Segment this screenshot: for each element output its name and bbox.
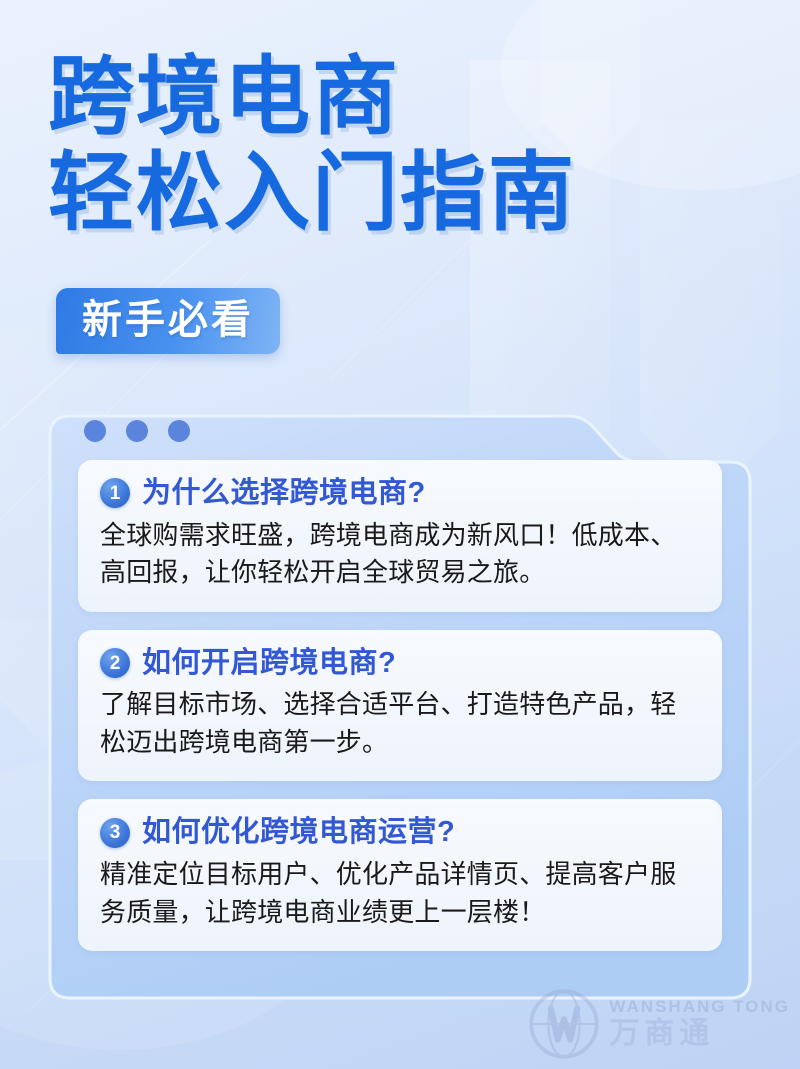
watermark-chinese: 万商通: [609, 1018, 790, 1050]
section-header: 1 为什么选择跨境电商?: [100, 476, 700, 511]
badge-label: 新手必看: [82, 298, 254, 342]
window-dot-1-icon: [84, 420, 106, 442]
section-item: 3 如何优化跨境电商运营? 精准定位目标用户、优化产品详情页、提高客户服务质量，…: [78, 799, 722, 951]
section-item: 1 为什么选择跨境电商? 全球购需求旺盛，跨境电商成为新风口！低成本、高回报，让…: [78, 460, 722, 612]
section-item: 2 如何开启跨境电商? 了解目标市场、选择合适平台、打造特色产品，轻松迈出跨境电…: [78, 630, 722, 782]
beginner-badge: 新手必看: [56, 288, 280, 354]
section-number-badge: 1: [100, 478, 130, 508]
sections-list: 1 为什么选择跨境电商? 全球购需求旺盛，跨境电商成为新风口！低成本、高回报，让…: [78, 460, 722, 951]
section-body-text: 全球购需求旺盛，跨境电商成为新风口！低成本、高回报，让你轻松开启全球贸易之旅。: [100, 517, 700, 592]
watermark-text: WANSHANG TONG 万商通: [609, 998, 790, 1049]
watermark-english: WANSHANG TONG: [609, 998, 790, 1016]
section-number-badge: 2: [100, 648, 130, 678]
section-number-badge: 3: [100, 818, 130, 848]
title-line-2: 轻松入门指南: [48, 150, 768, 238]
title-line-1: 跨境电商: [48, 54, 768, 142]
poster-root: 跨境电商 轻松入门指南 新手必看: [0, 0, 800, 1069]
section-title: 为什么选择跨境电商?: [142, 476, 426, 511]
window-dot-2-icon: [126, 420, 148, 442]
section-body-text: 了解目标市场、选择合适平台、打造特色产品，轻松迈出跨境电商第一步。: [100, 686, 700, 761]
section-header: 3 如何优化跨境电商运营?: [100, 815, 700, 850]
section-title: 如何优化跨境电商运营?: [142, 815, 455, 850]
section-body-text: 精准定位目标用户、优化产品详情页、提高客户服务质量，让跨境电商业绩更上一层楼！: [100, 856, 700, 931]
section-title: 如何开启跨境电商?: [142, 646, 396, 681]
window-dot-3-icon: [168, 420, 190, 442]
section-header: 2 如何开启跨境电商?: [100, 646, 700, 681]
window-dots: [84, 420, 190, 442]
content-window-card: 1 为什么选择跨境电商? 全球购需求旺盛，跨境电商成为新风口！低成本、高回报，让…: [48, 398, 752, 1000]
poster-title: 跨境电商 轻松入门指南: [48, 54, 768, 237]
